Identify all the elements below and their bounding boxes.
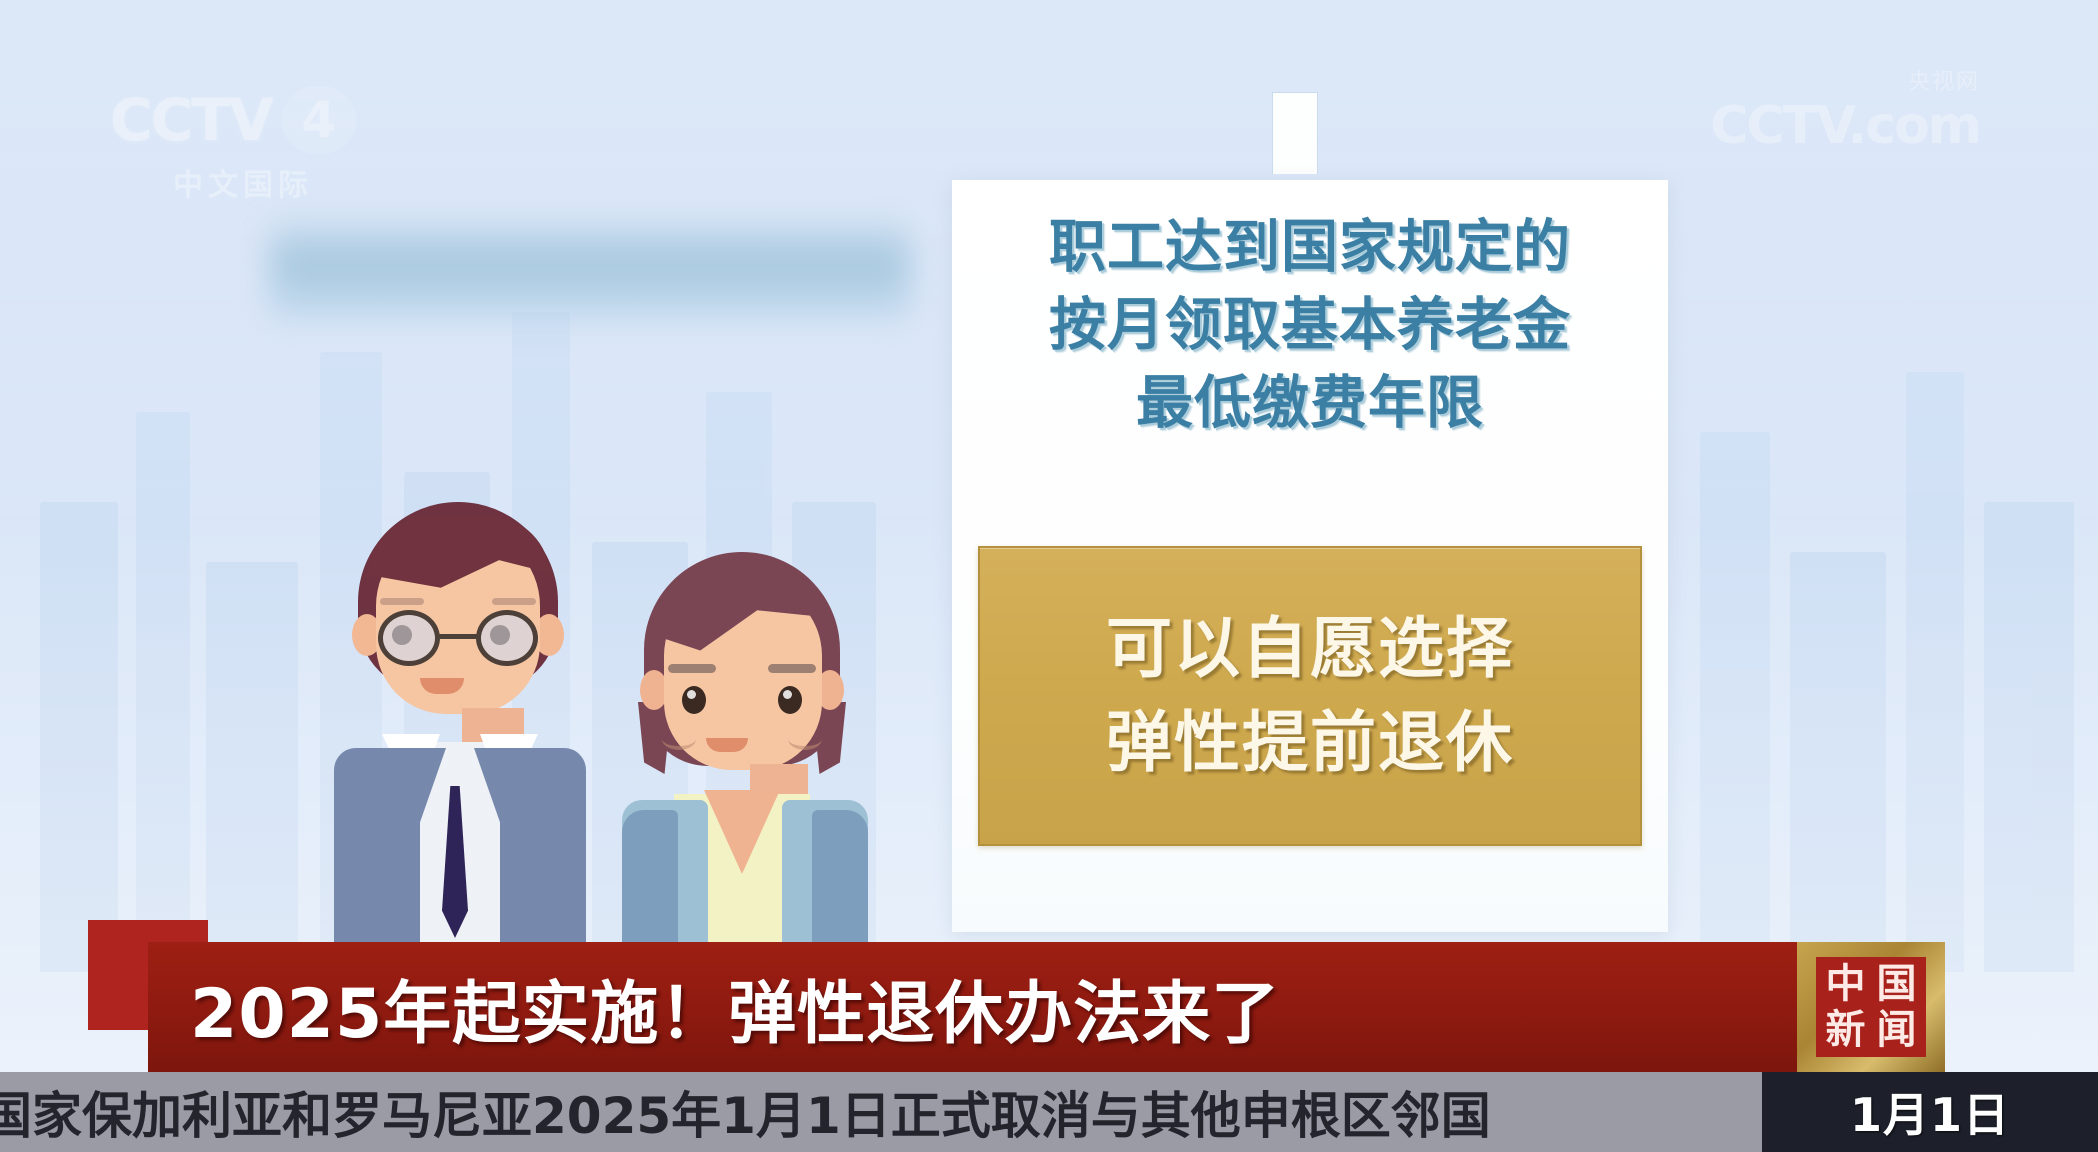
- female-brow-right: [768, 664, 816, 673]
- male-head: [358, 502, 558, 724]
- cctv-channel-subtitle: 中文国际: [110, 160, 376, 204]
- headline-text: 2025年起实施！弹性退休办法来了: [190, 958, 1280, 1057]
- broadcast-screen: CCTV 4 中文国际 央视网 CCTV.com: [0, 0, 2098, 1152]
- cctv-com-watermark-sub: 央视网: [1690, 64, 1980, 96]
- card-heading-line-1: 职工达到国家规定的: [952, 208, 1668, 286]
- ticker-scrolling-area: 国家保加利亚和罗马尼亚2025年1月1日正式取消与其他申根区邻国: [0, 1072, 1762, 1152]
- cctv-logo-text: CCTV: [110, 86, 272, 154]
- program-badge-char-4: 闻: [1871, 1007, 1922, 1053]
- news-ticker: 国家保加利亚和罗马尼亚2025年1月1日正式取消与其他申根区邻国 1月1日: [0, 1072, 2098, 1152]
- female-cheek-line-right: [788, 728, 822, 750]
- program-badge-inner: 中 国 新 闻: [1816, 957, 1926, 1057]
- program-badge-char-3: 新: [1820, 1007, 1871, 1053]
- ticker-date-box: 1月1日: [1762, 1072, 2098, 1152]
- card-top-tab: [1272, 92, 1318, 174]
- female-brow-left: [668, 664, 716, 673]
- info-card: 职工达到国家规定的 按月领取基本养老金 最低缴费年限 可以自愿选择 弹性提前退休: [952, 180, 1668, 932]
- glasses-lens-left: [378, 610, 440, 666]
- female-eye-right: [778, 686, 802, 714]
- blurred-text-band: [270, 222, 910, 326]
- highlight-line-2: 弹性提前退休: [1106, 696, 1514, 790]
- ticker-date-text: 1月1日: [1850, 1079, 2010, 1145]
- male-brow-left: [380, 598, 424, 605]
- glasses-icon: [378, 610, 538, 666]
- program-badge: 中 国 新 闻: [1797, 942, 1945, 1072]
- card-heading-line-3: 最低缴费年限: [952, 364, 1668, 442]
- highlight-line-1: 可以自愿选择: [1106, 602, 1514, 696]
- program-badge-char-1: 中: [1820, 961, 1871, 1007]
- female-eye-left: [682, 686, 706, 714]
- female-cheek-line-left: [662, 728, 696, 750]
- glasses-lens-right: [476, 610, 538, 666]
- male-brow-right: [492, 598, 536, 605]
- glasses-bridge: [438, 634, 480, 639]
- female-head: [644, 552, 840, 780]
- card-heading-line-2: 按月领取基本养老金: [952, 286, 1668, 364]
- card-heading: 职工达到国家规定的 按月领取基本养老金 最低缴费年限: [952, 208, 1668, 442]
- cctv-com-watermark-main: CCTV.com: [1690, 96, 1980, 156]
- program-badge-char-2: 国: [1871, 961, 1922, 1007]
- ticker-text: 国家保加利亚和罗马尼亚2025年1月1日正式取消与其他申根区邻国: [0, 1076, 1491, 1148]
- lower-third-bar: 2025年起实施！弹性退休办法来了: [148, 942, 1797, 1072]
- highlight-box: 可以自愿选择 弹性提前退休: [978, 546, 1642, 846]
- cctv4-channel-logo: CCTV 4 中文国际: [110, 86, 420, 198]
- cctv-com-watermark: 央视网 CCTV.com: [1690, 72, 1980, 148]
- cctv-channel-number: 4: [282, 86, 356, 154]
